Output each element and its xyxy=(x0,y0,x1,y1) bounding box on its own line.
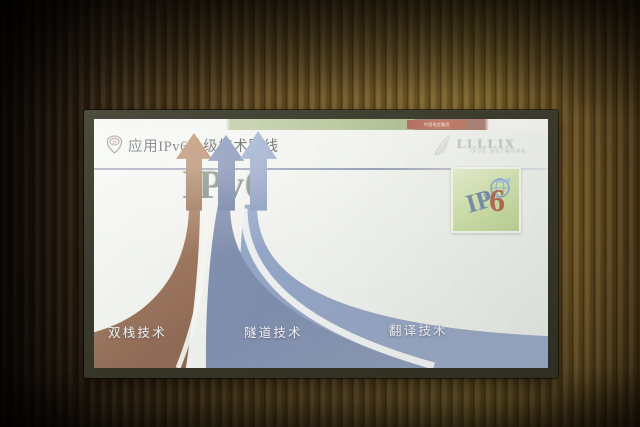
arrow-dual-stack xyxy=(176,133,212,211)
label-tunneling: 隧道技术 xyxy=(244,322,303,341)
band-dual-stack xyxy=(94,205,200,368)
label-translation: 翻译技术 xyxy=(389,320,448,339)
screen-bezel: 中国电信集团 21 应用IPv6升级技术路线 xyxy=(84,110,558,378)
screenshot-root: 中国电信集团 21 应用IPv6升级技术路线 xyxy=(0,0,640,427)
arrow-translation xyxy=(240,131,277,211)
presentation-slide: 中国电信集团 21 应用IPv6升级技术路线 xyxy=(94,119,548,368)
arrow-tunneling xyxy=(208,135,244,211)
label-dual-stack: 双栈技术 xyxy=(108,322,167,341)
